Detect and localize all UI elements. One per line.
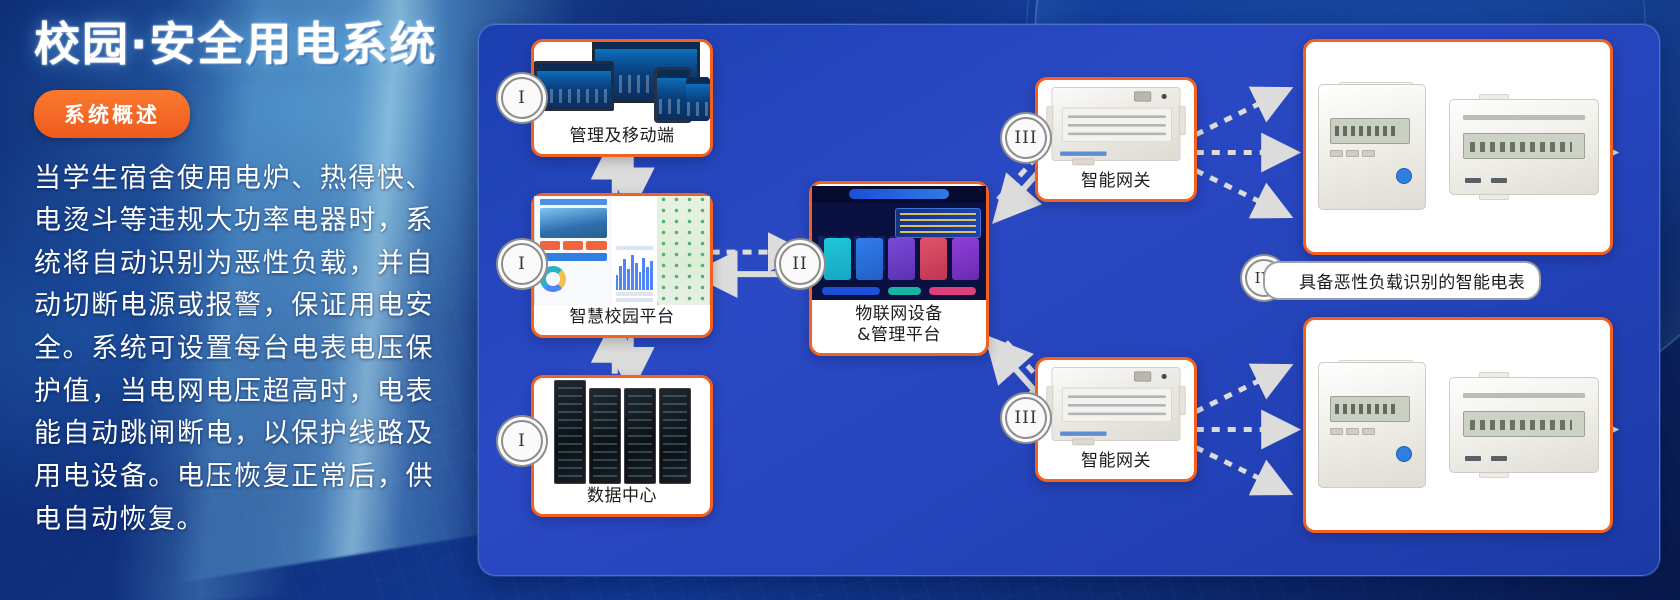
numeral-badge-admin-mobile: I	[501, 77, 543, 119]
node-smart-campus[interactable]: 智慧校园平台	[531, 193, 713, 338]
smart-meter-single-phase	[1318, 362, 1426, 488]
node-smart-meters-top[interactable]	[1303, 39, 1613, 255]
server-rack	[659, 388, 691, 484]
gateway-device-image-bottom	[1038, 360, 1194, 449]
campus-chart-column	[612, 196, 657, 305]
page-title: 校园·安全用电系统	[34, 16, 448, 74]
smart-meter-single-phase	[1318, 84, 1426, 210]
server-rack	[554, 380, 586, 484]
left-text-panel: 校园·安全用电系统 系统概述 当学生宿舍使用电炉、热得快、电烫斗等违规大功率电器…	[0, 0, 470, 600]
connector-gateway-bottom-to-meters	[1196, 372, 1284, 488]
gateway-device-image-top	[1038, 80, 1194, 169]
numeral-badge-gateway-top: III	[1005, 117, 1047, 159]
node-iot-platform[interactable]: 物联网设备 &管理平台	[809, 181, 989, 356]
campus-map	[657, 196, 709, 305]
node-gateway-bottom[interactable]: 智能网关	[1035, 357, 1197, 482]
node-admin-mobile-label: 管理及移动端	[570, 124, 675, 154]
node-data-center[interactable]: 数据中心	[531, 375, 713, 517]
smart-meter-three-phase	[1449, 99, 1599, 195]
usb-port-icon	[1134, 372, 1151, 382]
node-smart-campus-label: 智慧校园平台	[570, 305, 675, 335]
node-gateway-top-label: 智能网关	[1081, 169, 1151, 199]
iot-platform-screenshot	[812, 184, 986, 302]
connector-gateway-top-to-meters	[1196, 95, 1284, 211]
node-admin-mobile[interactable]: 管理及移动端	[531, 39, 713, 157]
server-rack	[624, 388, 656, 484]
section-badge-overview: 系统概述	[34, 90, 190, 138]
smart-meter-three-phase	[1449, 377, 1599, 473]
node-smart-meters-bottom[interactable]	[1303, 317, 1613, 533]
node-gateway-top[interactable]: 智能网关	[1035, 77, 1197, 202]
smart-campus-screenshot	[534, 196, 710, 305]
connector-admin-to-campus	[615, 153, 631, 195]
data-center-servers	[534, 378, 710, 484]
smart-meters-caption-pill: 具备恶性负载识别的智能电表	[1263, 261, 1541, 300]
node-iot-platform-label-line1: 物联网设备	[855, 304, 943, 324]
node-iot-platform-label: 物联网设备 &管理平台	[855, 302, 943, 354]
phone-icon	[686, 77, 710, 121]
campus-dashboard-left	[535, 196, 612, 305]
smart-meters-caption-text: 具备恶性负载识别的智能电表	[1299, 273, 1525, 293]
node-iot-platform-label-line2: &管理平台	[857, 325, 941, 345]
node-data-center-label: 数据中心	[587, 484, 657, 514]
numeral-badge-smart-campus: I	[501, 243, 543, 285]
node-gateway-bottom-label: 智能网关	[1081, 449, 1151, 479]
numeral-badge-iot-platform: II	[779, 243, 821, 285]
admin-mobile-screens	[534, 42, 710, 124]
usb-port-icon	[1134, 92, 1151, 102]
numeral-badge-data-center: I	[501, 420, 543, 462]
server-rack	[589, 388, 621, 484]
architecture-diagram-panel: 管理及移动端 I 智慧校园平台	[478, 24, 1660, 576]
numeral-badge-gateway-bottom: III	[1005, 397, 1047, 439]
laptop-icon	[534, 61, 614, 111]
overview-paragraph: 当学生宿舍使用电炉、热得快、电烫斗等违规大功率电器时，系统将自动识别为恶性负载，…	[34, 158, 434, 542]
connector-campus-to-datacenter	[615, 336, 631, 374]
